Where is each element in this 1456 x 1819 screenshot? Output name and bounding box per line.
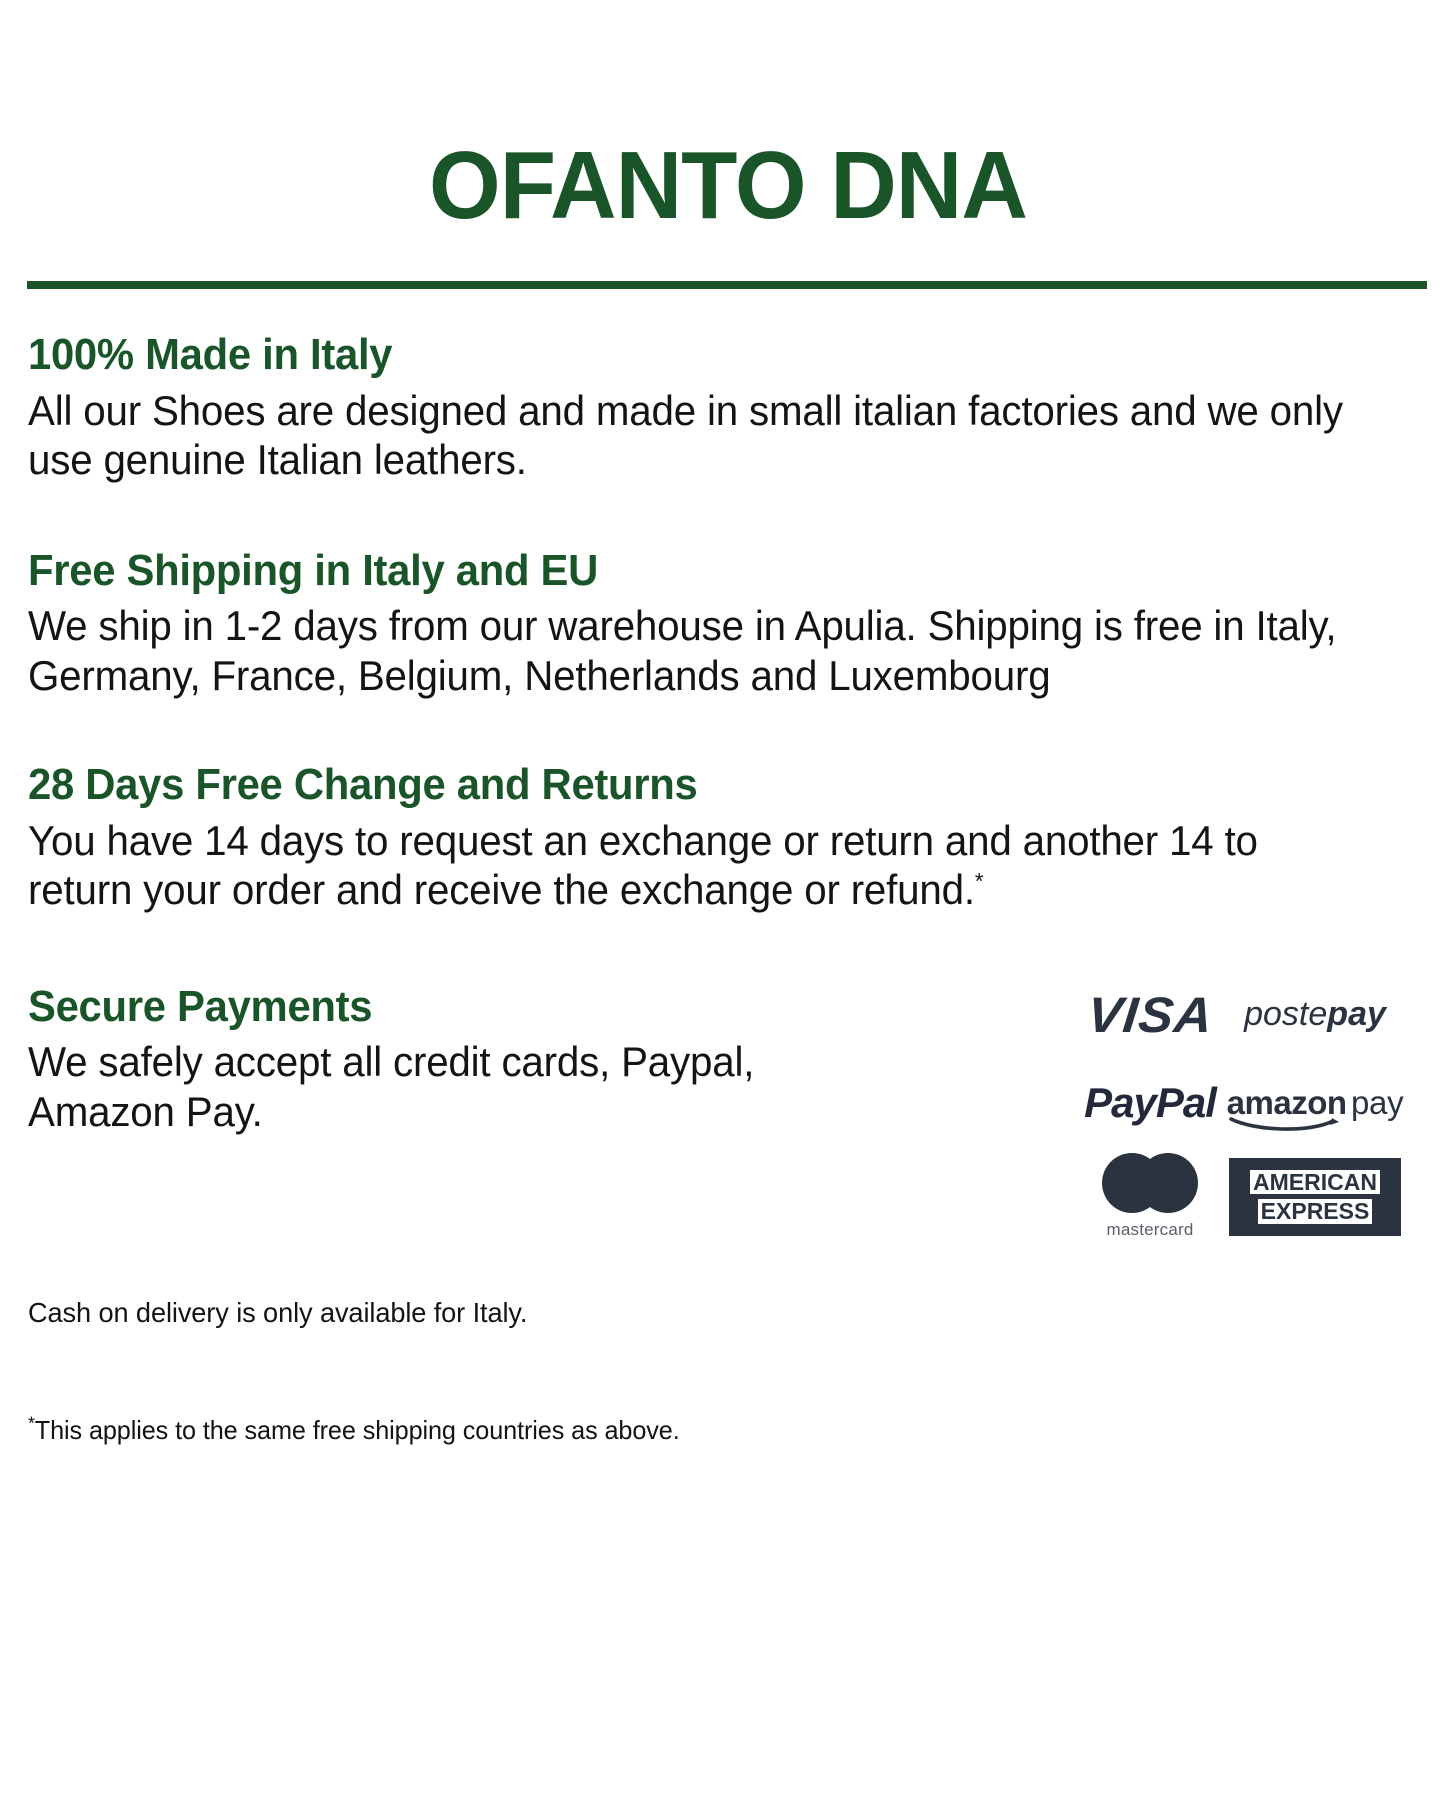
amazon-smile-icon bbox=[1229, 1117, 1341, 1131]
amazon-pay-logo-text: amazon pay bbox=[1227, 1101, 1404, 1118]
section-made-in-italy: 100% Made in Italy All our Shoes are des… bbox=[28, 289, 1428, 485]
section-body-returns-text: You have 14 days to request an exchange … bbox=[28, 817, 1258, 914]
paypal-logo-text: PayPal bbox=[1084, 1079, 1216, 1126]
footnote-marker: * bbox=[28, 1414, 35, 1434]
returns-footnote-marker: * bbox=[975, 868, 983, 894]
payments-row: Secure Payments We safely accept all cre… bbox=[28, 983, 1428, 1247]
ofanto-dna-page: OFANTO DNA 100% Made in Italy All our Sh… bbox=[0, 0, 1456, 1819]
section-returns: 28 Days Free Change and Returns You have… bbox=[28, 700, 1428, 915]
title-divider bbox=[27, 281, 1427, 289]
section-secure-payments: Secure Payments We safely accept all cre… bbox=[28, 915, 1428, 1247]
mastercard-logo-text: mastercard bbox=[1106, 1220, 1193, 1240]
paypal-logo: PayPal bbox=[1084, 1079, 1216, 1127]
mastercard-circles-icon bbox=[1102, 1153, 1198, 1213]
visa-logo: VISA bbox=[1090, 986, 1211, 1044]
amazon-pay-logo-amazon-text: amazon bbox=[1227, 1084, 1347, 1121]
section-body-free-shipping: We ship in 1-2 days from our warehouse i… bbox=[28, 601, 1372, 700]
amazon-pay-logo-pay-text: pay bbox=[1351, 1084, 1403, 1121]
american-express-line-1: AMERICAN bbox=[1250, 1170, 1380, 1195]
footnote-disclaimer: *This applies to the same free shipping … bbox=[28, 1329, 1386, 1446]
section-heading-made-in-italy: 100% Made in Italy bbox=[28, 331, 1358, 379]
visa-logo-text: VISA bbox=[1084, 986, 1216, 1044]
mastercard-circle-right bbox=[1138, 1153, 1198, 1213]
postepay-logo-text-light: poste bbox=[1244, 995, 1327, 1033]
section-heading-returns: 28 Days Free Change and Returns bbox=[28, 761, 1358, 809]
section-heading-secure-payments: Secure Payments bbox=[28, 983, 779, 1031]
postepay-logo: postepay bbox=[1244, 995, 1386, 1034]
section-free-shipping: Free Shipping in Italy and EU We ship in… bbox=[28, 485, 1428, 701]
section-body-returns: You have 14 days to request an exchange … bbox=[28, 816, 1372, 915]
content-area: 100% Made in Italy All our Shoes are des… bbox=[28, 289, 1428, 1447]
postepay-logo-text-bold: pay bbox=[1327, 995, 1386, 1033]
postepay-logo-text: postepay bbox=[1244, 995, 1386, 1033]
payments-text-block: Secure Payments We safely accept all cre… bbox=[28, 983, 818, 1137]
footnote-disclaimer-text: This applies to the same free shipping c… bbox=[35, 1415, 680, 1445]
section-heading-free-shipping: Free Shipping in Italy and EU bbox=[28, 547, 1358, 595]
amazon-pay-logo: amazon pay bbox=[1227, 1086, 1404, 1119]
mastercard-logo: mastercard bbox=[1102, 1153, 1198, 1240]
section-body-secure-payments: We safely accept all credit cards, Paypa… bbox=[28, 1037, 786, 1136]
american-express-line-2: EXPRESS bbox=[1258, 1199, 1373, 1224]
payment-logo-grid: VISA postepay PayPal amazon pay bbox=[1074, 971, 1404, 1247]
section-body-made-in-italy: All our Shoes are designed and made in s… bbox=[28, 386, 1372, 485]
page-title: OFANTO DNA bbox=[56, 0, 1400, 234]
american-express-logo: AMERICAN EXPRESS bbox=[1229, 1158, 1401, 1236]
cash-on-delivery-note: Cash on delivery is only available for I… bbox=[28, 1247, 1386, 1330]
